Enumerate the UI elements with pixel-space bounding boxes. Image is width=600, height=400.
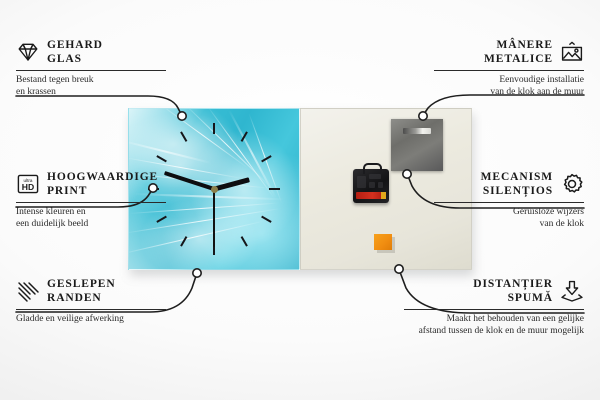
callout-distantier-spuma: DISTANȚIER SPUMĂ Maakt het behouden van … — [404, 277, 584, 337]
clock-mechanism — [353, 169, 389, 203]
callout-geslepen-randen: GESLEPEN RANDEN Gladde en veilige afwerk… — [16, 277, 166, 326]
callout-rule — [434, 202, 584, 203]
minute-hand — [164, 171, 215, 191]
callout-desc: Intense kleuren en een duidelijk beeld — [16, 207, 166, 230]
second-hand — [213, 189, 215, 247]
callout-desc: Eenvoudige installatie van de klok aan d… — [434, 75, 584, 98]
callout-title: MECANISM SILENȚIOS — [481, 170, 553, 198]
callout-title: GESLEPEN RANDEN — [47, 277, 116, 305]
hour-tick — [156, 155, 167, 162]
callout-desc: Maakt het behouden van een gelijke afsta… — [404, 314, 584, 337]
hour-tick — [180, 236, 187, 247]
callout-title: HOOGWAARDIGE PRINT — [47, 170, 158, 198]
hanger-slot — [403, 128, 431, 134]
hour-tick — [269, 188, 280, 190]
callout-gehard-glas: GEHARD GLAS Bestand tegen breuk en krass… — [16, 38, 166, 98]
aa-battery — [356, 192, 386, 199]
callout-rule — [16, 309, 166, 310]
hour-tick — [241, 131, 248, 142]
mechanism-detail — [357, 174, 385, 192]
callout-rule — [16, 202, 166, 203]
diamond-icon — [16, 40, 40, 64]
beveled-edges-icon — [16, 279, 40, 303]
product-photo — [128, 108, 472, 270]
hour-hand — [213, 177, 249, 191]
gear-icon — [560, 172, 584, 196]
hour-tick — [241, 236, 248, 247]
callout-title: DISTANȚIER SPUMĂ — [473, 277, 553, 305]
callout-mecanism-silentios: MECANISM SILENȚIOS Geruisloze wijzers va… — [434, 170, 584, 230]
callout-rule — [434, 70, 584, 71]
hour-tick — [261, 216, 272, 223]
callout-rule — [404, 309, 584, 310]
callout-desc: Bestand tegen breuk en krassen — [16, 75, 166, 98]
callout-rule — [16, 70, 166, 71]
product-infographic: GEHARD GLAS Bestand tegen breuk en krass… — [0, 0, 600, 400]
down-arrow-pad-icon — [560, 279, 584, 303]
foam-spacer-pad — [374, 234, 392, 250]
ultra-hd-icon: ultra HD — [16, 172, 40, 196]
callout-hoogwaardige-print: ultra HD HOOGWAARDIGE PRINT Intense kleu… — [16, 170, 166, 230]
callout-title: GEHARD GLAS — [47, 38, 103, 66]
svg-text:HD: HD — [22, 182, 34, 192]
callout-title: MÂNERE METALICE — [484, 38, 553, 66]
battery-terminal — [381, 192, 386, 199]
callout-desc: Geruisloze wijzers van de klok — [434, 207, 584, 230]
callout-desc: Gladde en veilige afwerking — [16, 314, 166, 326]
hand-center-cap — [211, 186, 218, 193]
hour-tick — [180, 131, 187, 142]
hour-tick — [213, 123, 215, 134]
callout-manere-metalice: MÂNERE METALICE Eenvoudige installatie v… — [434, 38, 584, 98]
hour-tick — [261, 155, 272, 162]
mechanism-hanging-loop — [363, 163, 382, 174]
metal-hanger-plate — [391, 119, 443, 171]
picture-frame-icon — [560, 40, 584, 64]
